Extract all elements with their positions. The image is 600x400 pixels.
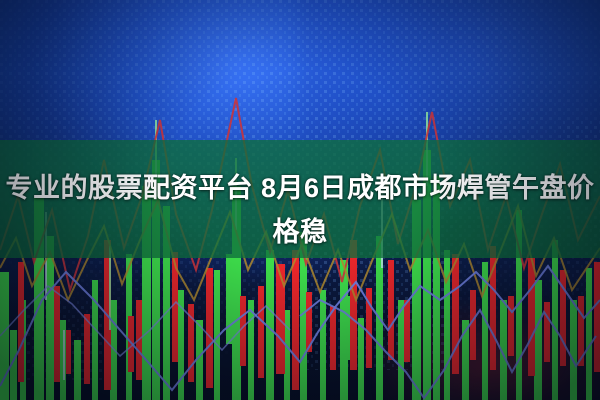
- vignette-overlay: [0, 0, 600, 400]
- banner-image: 专业的股票配资平台 8月6日成都市场焊管午盘价 格稳: [0, 0, 600, 400]
